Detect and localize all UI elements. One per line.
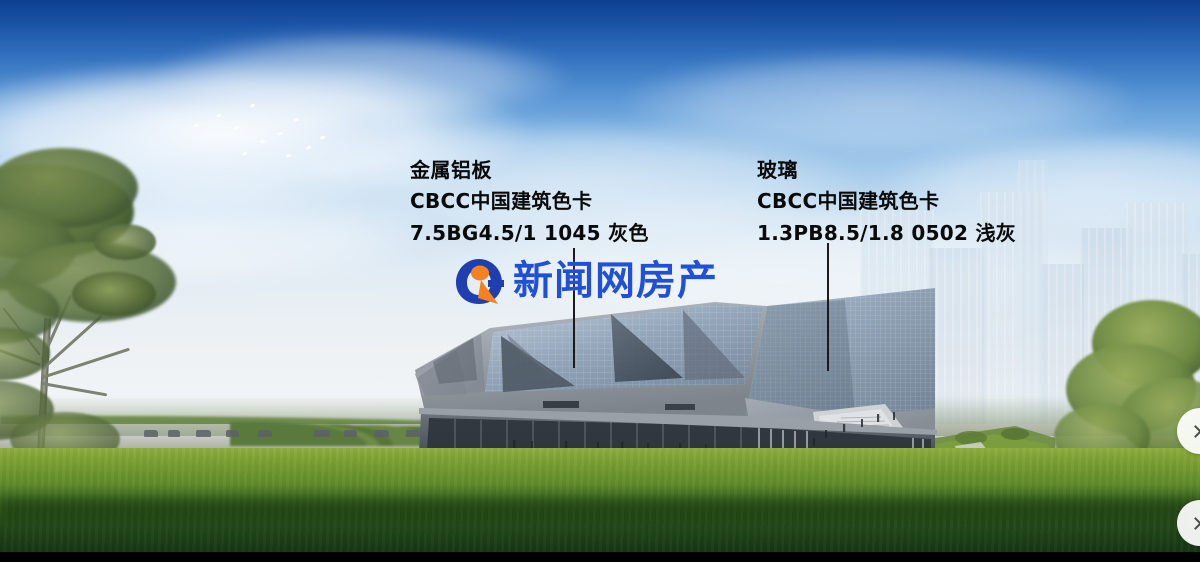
bottom-black-bar [0,552,1200,562]
car [258,430,272,437]
car [344,430,357,437]
chevron-right-icon [1189,517,1200,530]
annotation-material-name: 金属铝板 [410,155,649,185]
leader-line-glass [827,243,829,371]
annotation-color-spec: 7.5BG4.5/1 1045 灰色 [410,217,649,250]
car [314,430,330,437]
watermark-text: 新闻网房产 [513,261,718,301]
circular-q-logo-icon [452,256,506,306]
banner-image: 金属铝板 CBCC中国建筑色卡 7.5BG4.5/1 1045 灰色 玻璃 CB… [0,0,1200,562]
annotation-metal-panel: 金属铝板 CBCC中国建筑色卡 7.5BG4.5/1 1045 灰色 [410,155,649,250]
foreground-tree-right [1048,300,1200,470]
annotation-color-card: CBCC中国建筑色卡 [757,185,1016,217]
car [374,430,389,437]
lawn-shadow [0,492,1200,526]
annotation-material-name: 玻璃 [757,155,1016,185]
annotation-color-spec: 1.3PB8.5/1.8 0502 浅灰 [757,217,1016,250]
car [226,430,239,437]
foreground-tree-left [0,168,204,468]
chevron-right-icon [1189,425,1200,438]
building-geometry [415,288,1055,458]
main-building [415,288,1055,458]
watermark: 新闻网房产 [452,256,718,306]
annotation-glass: 玻璃 CBCC中国建筑色卡 1.3PB8.5/1.8 0502 浅灰 [757,155,1016,250]
annotation-color-card: CBCC中国建筑色卡 [410,185,649,217]
